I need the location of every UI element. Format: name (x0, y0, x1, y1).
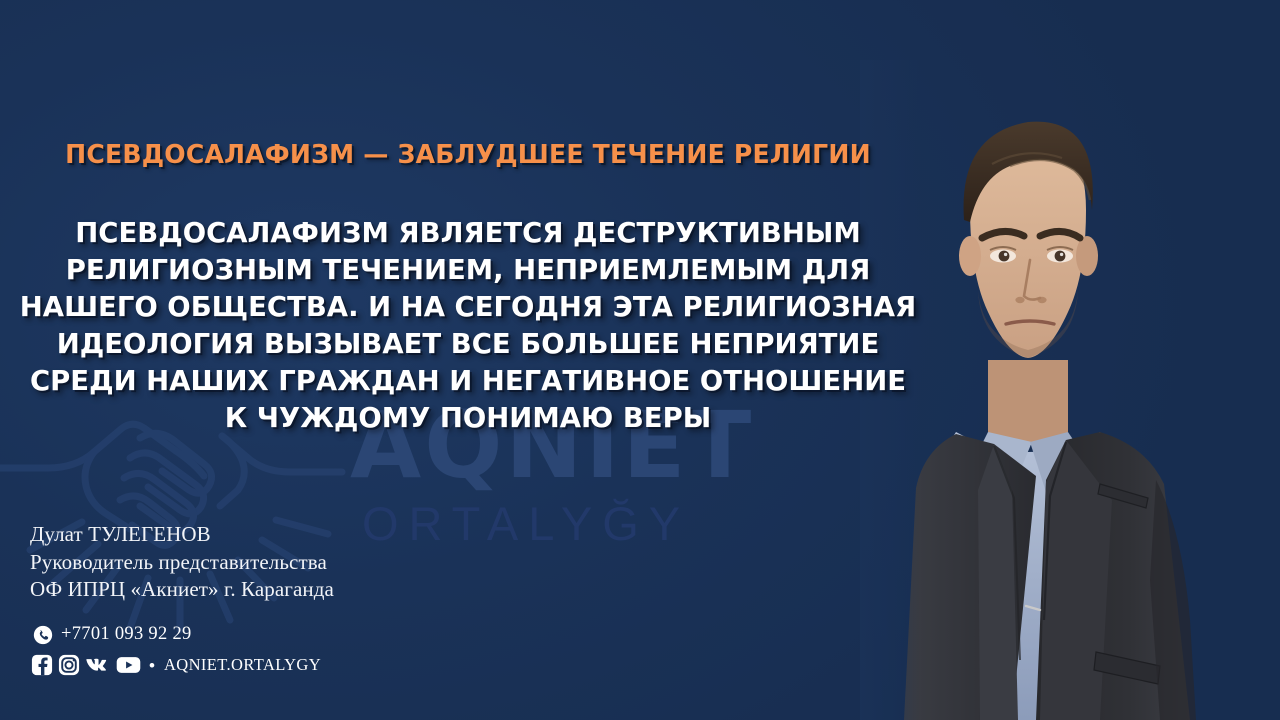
phone-icon[interactable] (33, 625, 53, 645)
body-copy: ПСЕВДОСАЛАФИЗМ ЯВЛЯЕТСЯ ДЕСТРУКТИВНЫМ РЕ… (0, 215, 936, 437)
vk-icon[interactable] (85, 654, 111, 676)
body-line: РЕЛИГИОЗНЫМ ТЕЧЕНИЕМ, НЕПРИЕМЛЕМЫМ ДЛЯ (0, 252, 936, 289)
phone-number[interactable]: +7701 093 92 29 (61, 624, 192, 645)
instagram-icon[interactable] (58, 654, 80, 676)
facebook-icon[interactable] (31, 654, 53, 676)
body-line: К ЧУЖДОМУ ПОНИМАЮ ВЕРЫ (0, 400, 936, 437)
social-row: • AQNIET.ORTALYGY (31, 654, 321, 676)
phone-row[interactable]: +7701 093 92 29 (33, 624, 192, 645)
speaker-organization: ОФ ИПРЦ «Акниет» г. Караганда (30, 576, 334, 604)
youtube-icon[interactable] (116, 654, 141, 676)
body-line: ПСЕВДОСАЛАФИЗМ ЯВЛЯЕТСЯ ДЕСТРУКТИВНЫМ (0, 215, 936, 252)
headline: ПСЕВДОСАЛАФИЗМ — ЗАБЛУДШЕЕ ТЕЧЕНИЕ РЕЛИГ… (7, 140, 929, 170)
body-line: СРЕДИ НАШИХ ГРАЖДАН И НЕГАТИВНОЕ ОТНОШЕН… (0, 363, 936, 400)
watermark-brand-secondary: ORTALYĞY (362, 500, 690, 547)
attribution-block: Дулат ТУЛЕГЕНОВ Руководитель представите… (30, 521, 334, 604)
body-line: ИДЕОЛОГИЯ ВЫЗЫВАЕТ ВСЕ БОЛЬШЕЕ НЕПРИЯТИЕ (0, 326, 936, 363)
speaker-position: Руководитель представительства (30, 549, 334, 577)
body-line: НАШЕГО ОБЩЕСТВА. И НА СЕГОДНЯ ЭТА РЕЛИГИ… (0, 289, 936, 326)
speaker-name: Дулат ТУЛЕГЕНОВ (30, 521, 334, 549)
social-info-card: AQNIET ORTALYĞY (0, 0, 1280, 720)
bullet-separator: • (149, 657, 155, 674)
social-handle[interactable]: AQNIET.ORTALYGY (164, 655, 321, 675)
